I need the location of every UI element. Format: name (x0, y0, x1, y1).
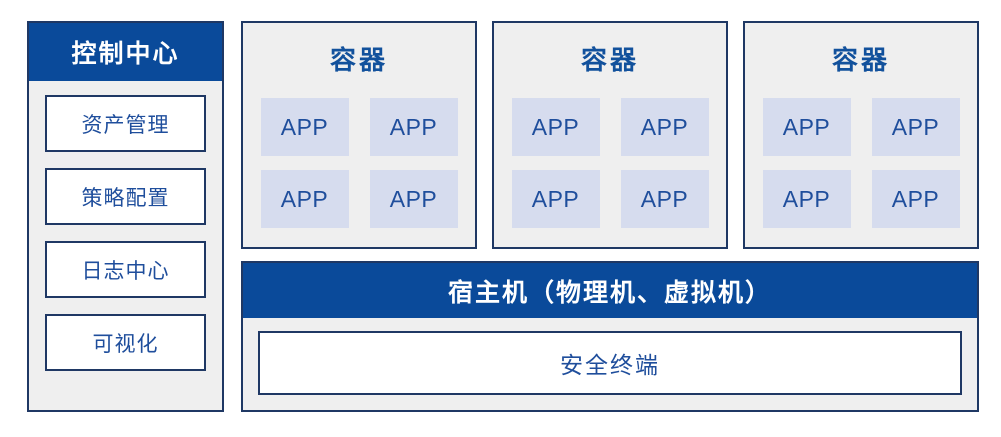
control-center-item-log-center[interactable]: 日志中心 (45, 241, 206, 298)
container-title: 容器 (243, 40, 475, 77)
host-machine-header: 宿主机（物理机、虚拟机） (243, 263, 977, 318)
app-box[interactable]: APP (370, 170, 458, 228)
container-title: 容器 (745, 40, 977, 77)
app-box[interactable]: APP (512, 98, 600, 156)
control-center-header: 控制中心 (29, 23, 222, 81)
host-machine-body: 安全终端 (243, 318, 977, 410)
app-box[interactable]: APP (621, 170, 709, 228)
app-grid: APP APP APP APP (745, 98, 977, 228)
app-box[interactable]: APP (261, 98, 349, 156)
control-center-panel: 控制中心 资产管理 策略配置 日志中心 可视化 (27, 21, 224, 412)
app-box[interactable]: APP (872, 98, 960, 156)
app-box[interactable]: APP (763, 98, 851, 156)
secure-terminal-box[interactable]: 安全终端 (258, 331, 962, 395)
app-grid: APP APP APP APP (243, 98, 475, 228)
app-box[interactable]: APP (370, 98, 458, 156)
container-panel-1: 容器 APP APP APP APP (241, 21, 477, 249)
app-box[interactable]: APP (621, 98, 709, 156)
control-center-item-asset-management[interactable]: 资产管理 (45, 95, 206, 152)
app-box[interactable]: APP (512, 170, 600, 228)
app-grid: APP APP APP APP (494, 98, 726, 228)
architecture-diagram: 控制中心 资产管理 策略配置 日志中心 可视化 容器 APP APP APP A… (0, 0, 1001, 437)
app-box[interactable]: APP (763, 170, 851, 228)
control-center-item-list: 资产管理 策略配置 日志中心 可视化 (29, 81, 222, 385)
container-panel-2: 容器 APP APP APP APP (492, 21, 728, 249)
control-center-item-policy-config[interactable]: 策略配置 (45, 168, 206, 225)
container-panel-3: 容器 APP APP APP APP (743, 21, 979, 249)
app-box[interactable]: APP (872, 170, 960, 228)
app-box[interactable]: APP (261, 170, 349, 228)
host-machine-panel: 宿主机（物理机、虚拟机） 安全终端 (241, 261, 979, 412)
control-center-item-visualization[interactable]: 可视化 (45, 314, 206, 371)
container-title: 容器 (494, 40, 726, 77)
